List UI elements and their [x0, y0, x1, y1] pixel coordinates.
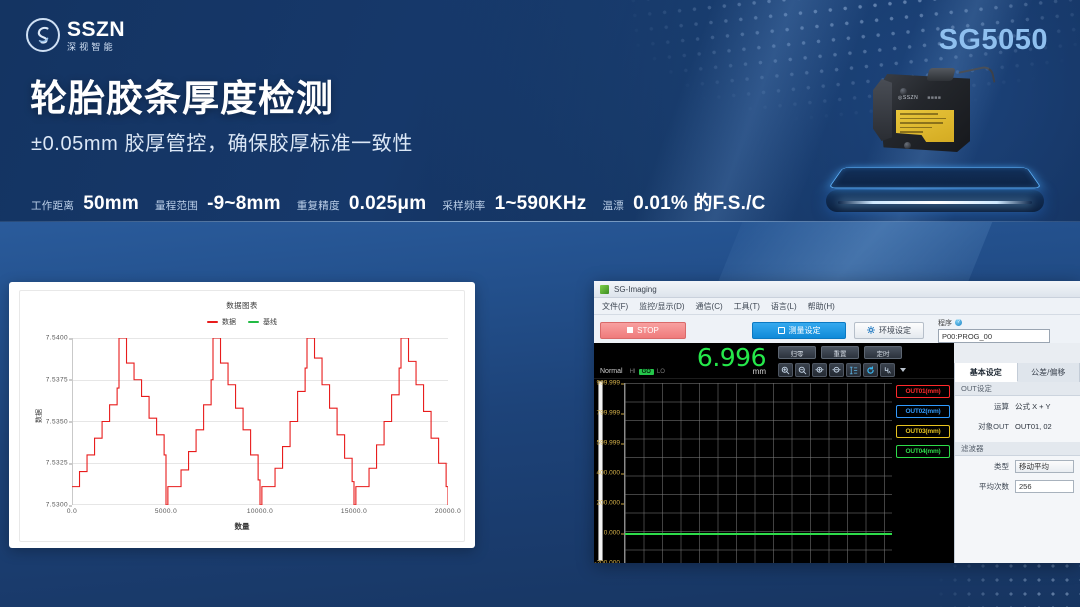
field-row-0-0: 运算公式 X + Y	[955, 396, 1080, 416]
measurement-value-box: 6.996 Normal HIGOLO mm	[594, 343, 772, 378]
refresh-icon[interactable]	[863, 363, 878, 377]
program-selector[interactable]: 程序 ? P00:PROG_00	[938, 318, 1050, 343]
spec-list: 工作距离50mm量程范围-9~8mm重复精度0.025μm采样频率1~590KH…	[31, 188, 773, 215]
podium-top	[828, 167, 1042, 188]
chart-line-data	[72, 338, 448, 505]
field-value-类型[interactable]: 移动平均	[1015, 460, 1074, 473]
output-chip-2[interactable]: OUT02(mm)	[896, 405, 950, 418]
app-icon	[600, 285, 609, 294]
spec-key-4: 温漂	[602, 198, 624, 213]
measure-settings-button[interactable]: 测量设定	[752, 322, 846, 339]
chart-y-tick: 7.5350	[46, 418, 68, 425]
spec-value-0: 50mm	[83, 193, 139, 215]
output-chip-1[interactable]: OUT01(mm)	[896, 385, 950, 398]
swirl-s-logo-icon	[26, 18, 60, 52]
chart-card: 数据图表 数据基线 数据 7.53007.53257.53507.53757.5…	[9, 282, 475, 548]
list-icon	[778, 327, 785, 334]
chart-y-tick: 7.5400	[46, 335, 68, 342]
menu-item-1[interactable]: 监控/显示(D)	[639, 301, 684, 312]
slide-root: SSZN 深视智能 SG5050 轮胎胶条厚度检测 ±0.05mm 胶厚管控，确…	[0, 0, 1080, 607]
field-row-1-0: 类型移动平均	[955, 456, 1080, 476]
section-header-0: OUT设定	[955, 382, 1080, 396]
measurement-mode: Normal	[600, 368, 623, 375]
zoom-in-vertical-icon[interactable]	[778, 363, 793, 377]
spec-value-4: 0.01% 的F.S./C	[633, 188, 765, 215]
measurement-display: 6.996 Normal HIGOLO mm 归零重置定时	[594, 343, 954, 379]
chart-x-axis-label: 数量	[20, 521, 464, 532]
zoom-out-vertical-icon[interactable]	[795, 363, 810, 377]
page-title: 轮胎胶条厚度检测	[30, 68, 334, 122]
logo-text-en: SSZN	[67, 19, 125, 40]
monitor-area: 6.996 Normal HIGOLO mm 归零重置定时	[594, 343, 954, 563]
spec-key-0: 工作距离	[31, 198, 74, 213]
window-title-bar: SG-Imaging	[594, 281, 1080, 298]
menu-item-3[interactable]: 工具(T)	[734, 301, 760, 312]
graph-plot-area: 999.999799.999599.999400.000200.0000.000…	[624, 383, 892, 563]
field-value-运算: 公式 X + Y	[1015, 401, 1051, 412]
program-value-field[interactable]: P00:PROG_00	[938, 329, 1050, 343]
chart-x-tick: 20000.0	[435, 508, 461, 515]
stop-button-label: STOP	[637, 326, 659, 335]
sensor-connector	[926, 68, 955, 81]
settings-panel: 基本设定公差/偏移 OUT设定运算公式 X + Y对象OUTOUT01, 02滤…	[954, 363, 1080, 563]
measure-settings-label: 测量设定	[789, 325, 821, 336]
measurement-controls: 归零重置定时	[772, 343, 954, 378]
logo-text-cn: 深视智能	[67, 43, 125, 52]
sensor-screw-icon	[900, 88, 907, 95]
menu-bar[interactable]: 文件(F)监控/显示(D)通信(C)工具(T)语言(L)帮助(H)	[594, 298, 1080, 315]
spec-value-1: -9~8mm	[207, 193, 281, 215]
program-label-row: 程序 ?	[938, 318, 1050, 328]
measure-button-0[interactable]: 归零	[778, 346, 816, 359]
legend-swatch-icon	[248, 321, 259, 323]
measurement-buttons[interactable]: 归零重置定时	[778, 346, 954, 359]
spec-key-1: 量程范围	[155, 198, 198, 213]
sensor-lens-face	[873, 79, 892, 141]
graph-tool-buttons[interactable]: A	[778, 363, 954, 377]
settings-tab-0[interactable]: 基本设定	[955, 363, 1018, 382]
output-legend[interactable]: OUT01(mm)OUT02(mm)OUT03(mm)OUT04(mm)	[896, 385, 950, 458]
zoom-out-horizontal-icon[interactable]	[829, 363, 844, 377]
output-chip-3[interactable]: OUT03(mm)	[896, 425, 950, 438]
field-label: 类型	[961, 461, 1009, 472]
field-label: 对象OUT	[961, 421, 1009, 432]
measure-button-2[interactable]: 定时	[864, 346, 902, 359]
field-row-0-1: 对象OUTOUT01, 02	[955, 416, 1080, 436]
brand-logo: SSZN 深视智能	[26, 18, 125, 52]
indicator-go: GO	[639, 369, 654, 375]
graph-y-tick: 200.000	[597, 500, 621, 507]
environment-settings-button[interactable]: 环境设定	[854, 322, 924, 339]
output-graph: 999.999799.999599.999400.000200.0000.000…	[594, 379, 954, 563]
stop-button[interactable]: STOP	[600, 322, 686, 339]
field-label: 运算	[961, 401, 1009, 412]
laser-sensor-device: ◎SSZN■■■■	[872, 66, 980, 158]
svg-text:A: A	[888, 370, 891, 374]
menu-item-5[interactable]: 帮助(H)	[808, 301, 835, 312]
environment-settings-label: 环境设定	[879, 325, 911, 336]
chart-x-tick: 0.0	[67, 508, 77, 515]
help-icon[interactable]: ?	[955, 319, 962, 326]
dropdown-caret-icon[interactable]	[900, 368, 906, 372]
section-header-1: 滤波器	[955, 442, 1080, 456]
spec-value-2: 0.025μm	[349, 193, 426, 215]
sensor-brand-mark: ◎SSZN■■■■	[898, 95, 941, 101]
field-label: 平均次数	[961, 481, 1009, 492]
graph-grid	[624, 383, 892, 563]
product-image: ◎SSZN■■■■	[820, 56, 1050, 216]
graph-y-tick: 400.000	[597, 470, 621, 477]
settings-tabs[interactable]: 基本设定公差/偏移	[955, 363, 1080, 382]
graph-y-tick: 599.999	[597, 440, 621, 447]
trigger-icon[interactable]: A	[880, 363, 895, 377]
window-title: SG-Imaging	[614, 285, 657, 294]
chart-legend: 数据基线	[20, 317, 464, 327]
legend-label: 数据	[222, 317, 236, 327]
stop-square-icon	[627, 327, 633, 333]
chart-y-tick: 7.5375	[46, 376, 68, 383]
field-row-1-1: 平均次数256	[955, 476, 1080, 496]
field-value-平均次数[interactable]: 256	[1015, 480, 1074, 493]
hero-banner: SSZN 深视智能 SG5050 轮胎胶条厚度检测 ±0.05mm 胶厚管控，确…	[0, 0, 1080, 222]
menu-item-4[interactable]: 语言(L)	[771, 301, 797, 312]
sensor-screw-icon-2	[904, 142, 911, 149]
spec-value-3: 1~590KHz	[495, 193, 587, 215]
gear-icon	[867, 326, 875, 334]
spec-key-3: 采样频率	[442, 198, 485, 213]
software-window: SG-Imaging 文件(F)监控/显示(D)通信(C)工具(T)语言(L)帮…	[594, 281, 1080, 563]
toolbar: STOP 测量设定 环境设定 程序 ? P00	[594, 315, 1080, 343]
section-gap	[955, 496, 1080, 502]
product-sku: SG5050	[939, 24, 1048, 57]
indicator-lo: LO	[654, 369, 668, 375]
chart-y-tick: 7.5300	[46, 502, 68, 509]
chart-x-tick: 10000.0	[247, 508, 273, 515]
legend-label: 基线	[263, 317, 277, 327]
menu-item-2[interactable]: 通信(C)	[696, 301, 723, 312]
output-chip-4[interactable]: OUT04(mm)	[896, 445, 950, 458]
chart-title: 数据图表	[20, 300, 464, 311]
chart-x-tick: 15000.0	[341, 508, 367, 515]
field-value-对象OUT: OUT01, 02	[1015, 422, 1052, 431]
menu-item-0[interactable]: 文件(F)	[602, 301, 628, 312]
zero-baseline-trace	[625, 533, 892, 535]
settings-sections: OUT设定运算公式 X + Y对象OUTOUT01, 02滤波器类型移动平均平均…	[955, 382, 1080, 502]
measurement-status-row: Normal HIGOLO mm	[600, 367, 766, 376]
legend-swatch-icon	[207, 321, 218, 323]
graph-y-tick: -200.000	[594, 560, 620, 564]
chart-plot-area: 7.53007.53257.53507.53757.5400 0.05000.0…	[72, 338, 448, 505]
chart-x-tick: 5000.0	[155, 508, 177, 515]
chart-legend-item-1: 基线	[248, 317, 277, 327]
settings-tab-1[interactable]: 公差/偏移	[1018, 363, 1080, 382]
chart-legend-item-0: 数据	[207, 317, 236, 327]
graph-y-tick: 999.999	[597, 380, 621, 387]
chart-series-path	[72, 338, 448, 505]
spec-key-2: 重复精度	[297, 198, 340, 213]
graph-y-tick: 0.000	[604, 530, 620, 537]
judgement-indicators: HIGOLO	[627, 368, 668, 375]
chart-y-axis-label: 数据	[34, 409, 44, 423]
page-subtitle: ±0.05mm 胶厚管控，确保胶厚标准一致性	[31, 127, 413, 156]
zoom-in-horizontal-icon[interactable]	[812, 363, 827, 377]
podium-glow-strip	[838, 201, 1032, 204]
measurement-unit: mm	[753, 367, 766, 376]
scale-fit-icon[interactable]	[846, 363, 861, 377]
chart-y-tick: 7.5325	[46, 460, 68, 467]
program-label: 程序	[938, 318, 952, 328]
product-podium	[824, 154, 1046, 212]
measure-button-1[interactable]: 重置	[821, 346, 859, 359]
indicator-hi: HI	[627, 369, 639, 375]
graph-y-tick: 799.999	[597, 410, 621, 417]
chart-inner-frame: 数据图表 数据基线 数据 7.53007.53257.53507.53757.5…	[19, 290, 465, 542]
